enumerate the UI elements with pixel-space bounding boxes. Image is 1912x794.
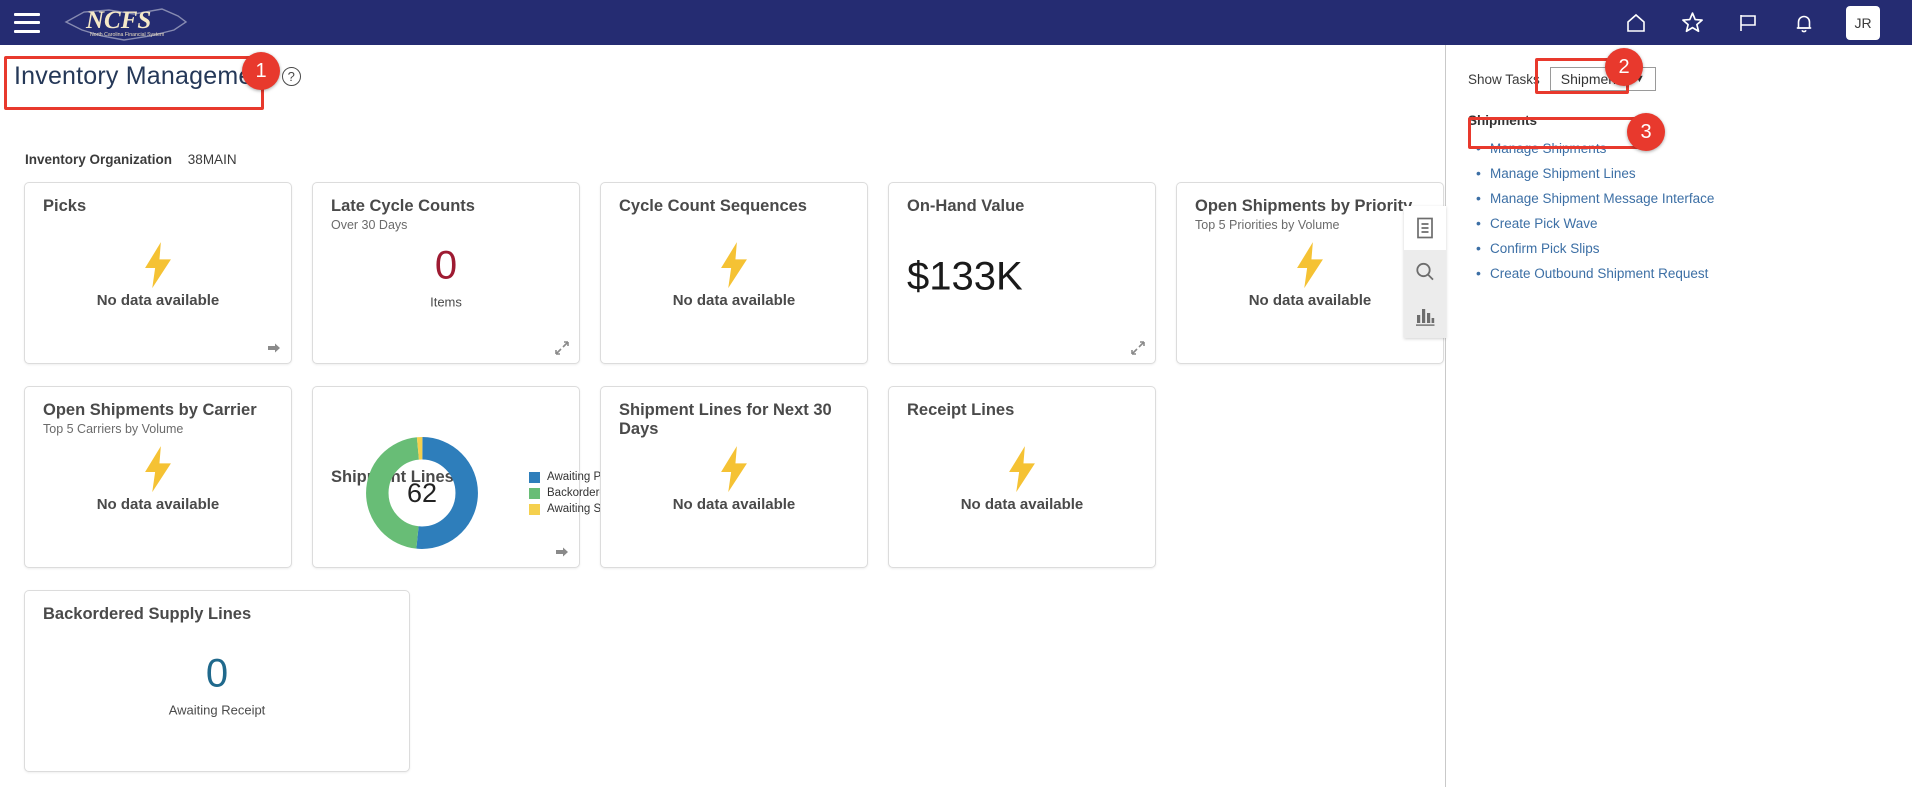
card-shipment-lines[interactable]: Shipment Lines 62 Awaiting Pic... [312,386,580,568]
card-empty-state: No data available [25,446,291,513]
card-title: Late Cycle Counts [331,197,561,216]
card-empty-text: No data available [673,496,796,513]
card-shipment-lines-next-30-days[interactable]: Shipment Lines for Next 30 Days No data … [600,386,868,568]
lightning-bolt-icon [716,242,752,288]
list-view-icon[interactable] [1404,206,1446,250]
annotation-badge-2: 2 [1605,48,1643,86]
flag-icon[interactable] [1734,9,1762,37]
card-open-shipments-by-carrier[interactable]: Open Shipments by Carrier Top 5 Carriers… [24,386,292,568]
card-picks[interactable]: Picks No data available [24,182,292,364]
annotation-badge-3: 3 [1627,113,1665,151]
user-avatar[interactable]: JR [1846,6,1880,40]
view-mode-toolbar [1404,206,1446,338]
card-empty-text: No data available [97,292,220,309]
task-link-manage-shipment-message-interface[interactable]: Manage Shipment Message Interface [1468,186,1912,211]
card-title: Picks [43,197,273,216]
legend-swatch [529,488,540,499]
donut-total: 62 [363,434,481,552]
bar-chart-icon[interactable] [1404,294,1446,338]
donut-chart: 62 Awaiting Pic... Backordered Awaiting … [327,427,569,559]
inventory-organization-value: 38MAIN [188,152,237,167]
card-subtitle: Top 5 Carriers by Volume [43,422,273,436]
card-empty-state: No data available [889,446,1155,513]
home-icon[interactable] [1622,9,1650,37]
card-empty-text: No data available [1249,292,1372,309]
task-link-create-pick-wave[interactable]: Create Pick Wave [1468,211,1912,236]
dashboard-card-grid: Picks No data available Late Cycle Count… [24,182,1444,794]
card-kpi: $133K [889,254,1155,299]
arrow-right-icon[interactable] [266,340,282,356]
help-icon[interactable]: ? [282,67,301,86]
svg-text:North Carolina Financial Syste: North Carolina Financial System [90,32,164,38]
card-row-2: Open Shipments by Carrier Top 5 Carriers… [24,386,1444,568]
card-title: Backordered Supply Lines [43,605,391,624]
svg-text:NCFS: NCFS [85,7,151,34]
card-cycle-count-sequences[interactable]: Cycle Count Sequences No data available [600,182,868,364]
arrow-right-icon[interactable] [554,544,570,560]
annotation-badge-1: 1 [242,52,280,90]
show-tasks-label: Show Tasks [1468,72,1540,87]
card-empty-state: No data available [25,242,291,309]
inventory-organization-label: Inventory Organization [25,152,172,167]
hamburger-menu-icon[interactable] [14,13,40,33]
kpi-label: Awaiting Receipt [169,702,266,717]
card-subtitle: Over 30 Days [331,218,561,232]
task-group-title: Shipments [1468,113,1912,128]
legend-swatch [529,472,540,483]
task-link-confirm-pick-slips[interactable]: Confirm Pick Slips [1468,236,1912,261]
search-icon[interactable] [1404,250,1446,294]
tasks-panel: Show Tasks Shipments ▼ Shipments Manage … [1445,45,1912,787]
card-backordered-supply-lines[interactable]: Backordered Supply Lines 0 Awaiting Rece… [24,590,410,772]
card-subtitle: Top 5 Priorities by Volume [1195,218,1425,232]
kpi-value: $133K [907,254,1023,299]
page-title: Inventory Management [14,62,274,91]
task-link-manage-shipments[interactable]: Manage Shipments [1468,136,1912,161]
expand-icon[interactable] [554,340,570,356]
card-title: Cycle Count Sequences [619,197,849,216]
lightning-bolt-icon [140,446,176,492]
lightning-bolt-icon [140,242,176,288]
card-empty-state: No data available [601,446,867,513]
card-empty-text: No data available [97,496,220,513]
task-link-manage-shipment-lines[interactable]: Manage Shipment Lines [1468,161,1912,186]
lightning-bolt-icon [716,446,752,492]
kpi-value: 0 [435,244,457,286]
task-link-list: Manage Shipments Manage Shipment Lines M… [1468,136,1912,286]
card-title: Open Shipments by Priority [1195,197,1425,216]
inventory-organization: Inventory Organization 38MAIN [25,152,237,167]
topbar-actions: JR [1622,6,1880,40]
card-late-cycle-counts[interactable]: Late Cycle Counts Over 30 Days 0 Items [312,182,580,364]
card-kpi: 0 Items [313,244,579,309]
lightning-bolt-icon [1004,446,1040,492]
legend-swatch [529,504,540,515]
card-title: Shipment Lines for Next 30 Days [619,401,849,439]
card-on-hand-value[interactable]: On-Hand Value $133K [888,182,1156,364]
card-title: On-Hand Value [907,197,1137,216]
donut-ring: 62 [363,434,481,552]
kpi-label: Items [430,294,462,309]
card-kpi: 0 Awaiting Receipt [25,652,409,717]
task-link-create-outbound-shipment-request[interactable]: Create Outbound Shipment Request [1468,261,1912,286]
card-empty-state: No data available [601,242,867,309]
card-title: Receipt Lines [907,401,1137,420]
card-title: Open Shipments by Carrier [43,401,273,420]
card-empty-text: No data available [961,496,1084,513]
kpi-value: 0 [206,652,228,694]
card-receipt-lines[interactable]: Receipt Lines No data available [888,386,1156,568]
lightning-bolt-icon [1292,242,1328,288]
card-empty-text: No data available [673,292,796,309]
bell-icon[interactable] [1790,9,1818,37]
expand-icon[interactable] [1130,340,1146,356]
show-tasks-row: Show Tasks Shipments ▼ [1468,67,1912,91]
favorites-star-icon[interactable] [1678,9,1706,37]
card-row-1: Picks No data available Late Cycle Count… [24,182,1444,364]
card-row-3: Backordered Supply Lines 0 Awaiting Rece… [24,590,1444,772]
top-navigation-bar: NCFS North Carolina Financial System [0,0,1912,45]
ncfs-logo[interactable]: NCFS North Carolina Financial System [54,0,204,45]
